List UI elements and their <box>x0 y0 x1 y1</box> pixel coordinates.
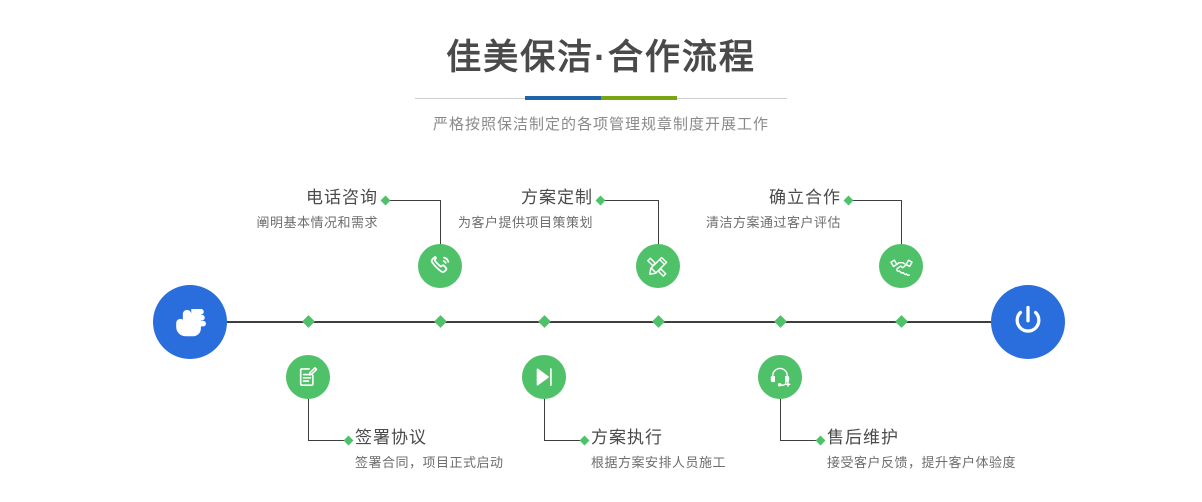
connector-hline-2 <box>308 440 348 441</box>
process-flow-page: 佳美保洁·合作流程 严格按照保洁制定的各项管理规章制度开展工作 <box>0 0 1202 502</box>
step-icon-4[interactable] <box>522 355 566 399</box>
axis-marker-6 <box>774 315 787 328</box>
step-desc-5: 清洁方案通过客户评估 <box>593 210 841 233</box>
axis-marker-4 <box>538 315 551 328</box>
step-desc-1: 阐明基本情况和需求 <box>130 210 378 233</box>
step-icon-6[interactable] <box>758 355 802 399</box>
step-label-1: 电话咨询 阐明基本情况和需求 <box>130 186 378 233</box>
step-label-6: 售后维护 接受客户反馈，提升客户体验度 <box>827 426 1087 473</box>
step-title-2: 签署协议 <box>355 426 595 450</box>
phone-call-icon <box>427 253 453 279</box>
axis-marker-5 <box>895 315 908 328</box>
axis-marker-1 <box>434 315 447 328</box>
step-title-1: 电话咨询 <box>130 186 378 210</box>
connector-vline-5 <box>901 200 902 246</box>
step-icon-2[interactable] <box>286 355 330 399</box>
timeline: 电话咨询 阐明基本情况和需求 签署协议 签署合同，项目正式启动 <box>0 0 1202 502</box>
step-label-3: 方案定制 为客户提供项目策策划 <box>345 186 593 233</box>
handshake-icon <box>888 253 915 280</box>
connector-dot-2 <box>344 436 354 446</box>
step-title-3: 方案定制 <box>345 186 593 210</box>
step-label-4: 方案执行 根据方案安排人员施工 <box>591 426 831 473</box>
step-desc-4: 根据方案安排人员施工 <box>591 450 831 473</box>
connector-dot-5 <box>844 196 854 206</box>
timeline-start-node[interactable] <box>153 285 227 359</box>
step-title-6: 售后维护 <box>827 426 1087 450</box>
sign-document-icon <box>295 364 321 390</box>
step-icon-1[interactable] <box>418 244 462 288</box>
power-icon <box>1007 301 1049 343</box>
play-execute-icon <box>531 364 557 390</box>
step-icon-5[interactable] <box>879 244 923 288</box>
step-title-4: 方案执行 <box>591 426 831 450</box>
pencil-ruler-icon <box>645 253 671 279</box>
step-title-5: 确立合作 <box>593 186 841 210</box>
timeline-end-node[interactable] <box>991 285 1065 359</box>
step-label-2: 签署协议 签署合同，项目正式启动 <box>355 426 595 473</box>
connector-hline-5 <box>848 200 901 201</box>
axis-marker-3 <box>652 315 665 328</box>
axis-marker-2 <box>302 315 315 328</box>
step-desc-6: 接受客户反馈，提升客户体验度 <box>827 450 1087 473</box>
customer-service-icon <box>767 364 793 390</box>
step-icon-3[interactable] <box>636 244 680 288</box>
step-label-5: 确立合作 清洁方案通过客户评估 <box>593 186 841 233</box>
connector-vline-2 <box>308 399 309 441</box>
pointing-hand-icon <box>169 301 211 343</box>
step-desc-3: 为客户提供项目策策划 <box>345 210 593 233</box>
step-desc-2: 签署合同，项目正式启动 <box>355 450 595 473</box>
